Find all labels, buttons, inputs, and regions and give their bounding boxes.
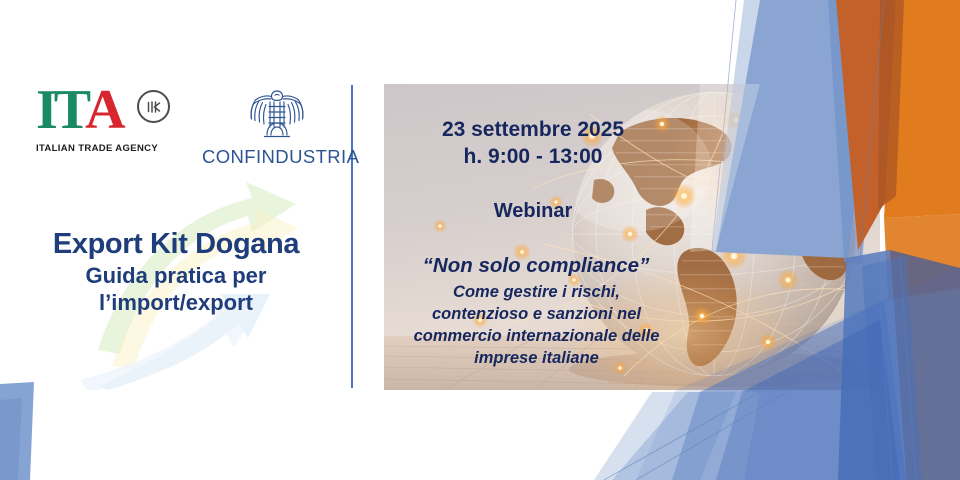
- ita-letter-a: A: [85, 82, 124, 138]
- webinar-announcement-banner: 23 settembre 2025 h. 9:00 - 13:00 Webina…: [0, 0, 960, 480]
- ita-tagline: ITALIAN TRADE AGENCY: [36, 143, 172, 154]
- partner-logos: I T A ITALIAN TRADE AGENCY: [36, 86, 352, 172]
- webinar-photo-panel: 23 settembre 2025 h. 9:00 - 13:00 Webina…: [384, 84, 880, 390]
- ice-mark-icon: [144, 97, 164, 117]
- confindustria-eagle-logo: [202, 86, 352, 144]
- page-title: Export Kit Dogana: [0, 228, 352, 260]
- webinar-desc-line-1: Come gestire i rischi,: [384, 282, 689, 304]
- webinar-description: Come gestire i rischi, contenzioso e san…: [384, 282, 689, 370]
- left-content-panel: I T A ITALIAN TRADE AGENCY: [0, 0, 352, 480]
- page-subtitle-line-2: l’import/export: [0, 290, 352, 316]
- webinar-kind-label: Webinar: [398, 200, 668, 223]
- confindustria-tagline: CONFINDUSTRIA: [202, 146, 352, 168]
- ita-logo: I T A ITALIAN TRADE AGENCY: [36, 86, 172, 154]
- webinar-datetime: 23 settembre 2025 h. 9:00 - 13:00: [398, 117, 668, 171]
- webinar-desc-line-2: contenzioso e sanzioni nel: [384, 304, 689, 326]
- webinar-desc-line-4: imprese italiane: [384, 348, 689, 370]
- webinar-time: h. 9:00 - 13:00: [398, 144, 668, 171]
- eagle-icon: [240, 87, 314, 143]
- ice-circular-emblem: [137, 90, 170, 123]
- webinar-desc-line-3: commercio internazionale delle: [384, 326, 689, 348]
- page-subtitle-line-1: Guida pratica per: [0, 263, 352, 289]
- webinar-date: 23 settembre 2025: [398, 117, 668, 144]
- event-title-block: Export Kit Dogana Guida pratica per l’im…: [0, 228, 352, 316]
- page-subtitle: Guida pratica per l’import/export: [0, 263, 352, 316]
- webinar-quote-title: “Non solo compliance”: [386, 254, 686, 278]
- confindustria-logo: CONFINDUSTRIA: [202, 86, 352, 168]
